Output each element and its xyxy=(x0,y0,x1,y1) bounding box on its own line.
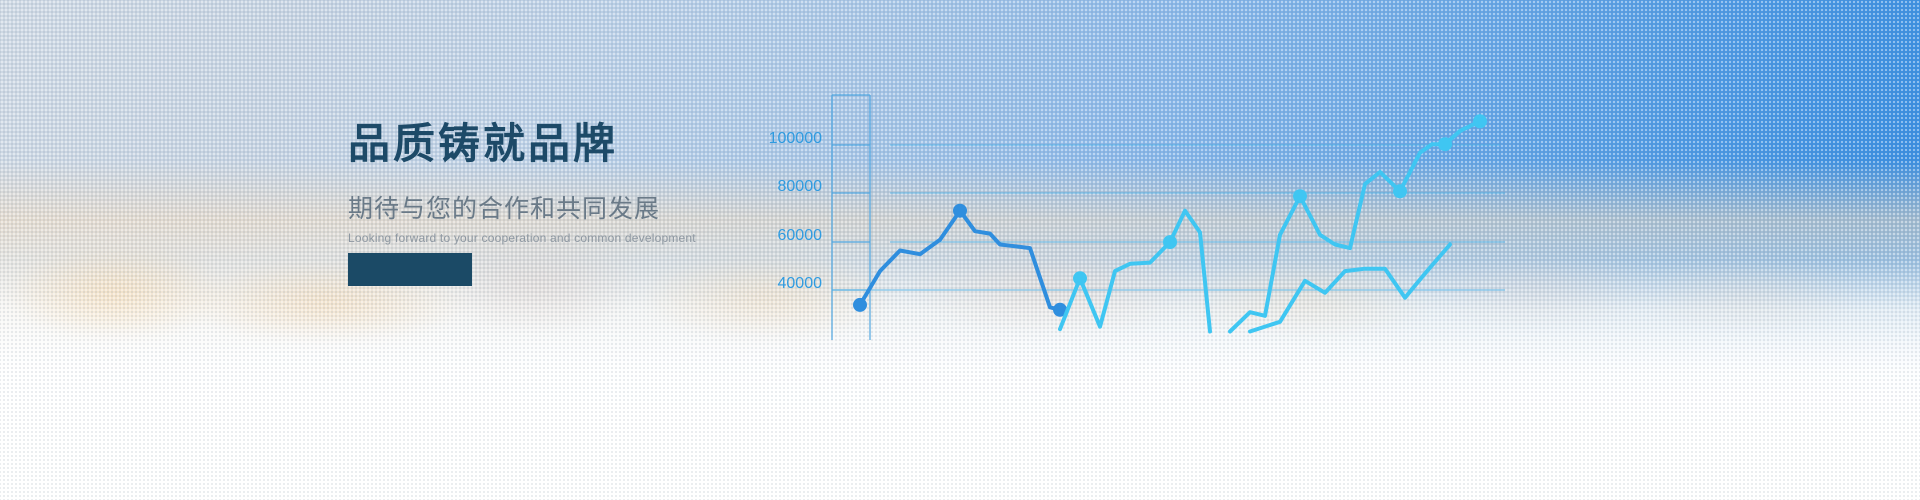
page-title: 品质铸就品牌 xyxy=(348,120,768,168)
chart-line-series-1 xyxy=(860,211,1060,310)
chart-data-point xyxy=(1293,189,1307,203)
hero-text-block: 品质铸就品牌 期待与您的合作和共同发展 Looking forward to y… xyxy=(348,120,768,247)
hero-subtitle: 期待与您的合作和共同发展 xyxy=(348,194,768,224)
chart-line-series-2 xyxy=(1060,211,1210,332)
chart-data-point xyxy=(853,298,867,312)
chart-data-point xyxy=(1473,114,1487,128)
chart-data-point xyxy=(953,204,967,218)
statistics-line-chart: 100000 80000 60000 40000 xyxy=(760,0,1920,500)
cta-button[interactable] xyxy=(348,253,472,286)
chart-data-point xyxy=(1073,271,1087,285)
chart-series-layer xyxy=(853,114,1487,331)
chart-line-series-4 xyxy=(1250,245,1450,332)
chart-svg: 100000 80000 60000 40000 xyxy=(760,0,1920,500)
chart-data-point xyxy=(1438,137,1452,151)
y-tick-label: 80000 xyxy=(778,178,823,195)
hero-banner: 品质铸就品牌 期待与您的合作和共同发展 Looking forward to y… xyxy=(0,0,1920,500)
chart-gridlines xyxy=(832,145,1505,290)
y-tick-label: 60000 xyxy=(778,227,823,244)
hero-tagline-english: Looking forward to your cooperation and … xyxy=(348,231,768,247)
y-tick-label: 40000 xyxy=(778,275,823,292)
chart-line-series-3 xyxy=(1230,121,1480,331)
chart-y-axis-labels: 100000 80000 60000 40000 xyxy=(769,130,822,292)
chart-data-point xyxy=(1393,184,1407,198)
y-tick-label: 100000 xyxy=(769,130,822,147)
chart-data-point xyxy=(1163,235,1177,249)
